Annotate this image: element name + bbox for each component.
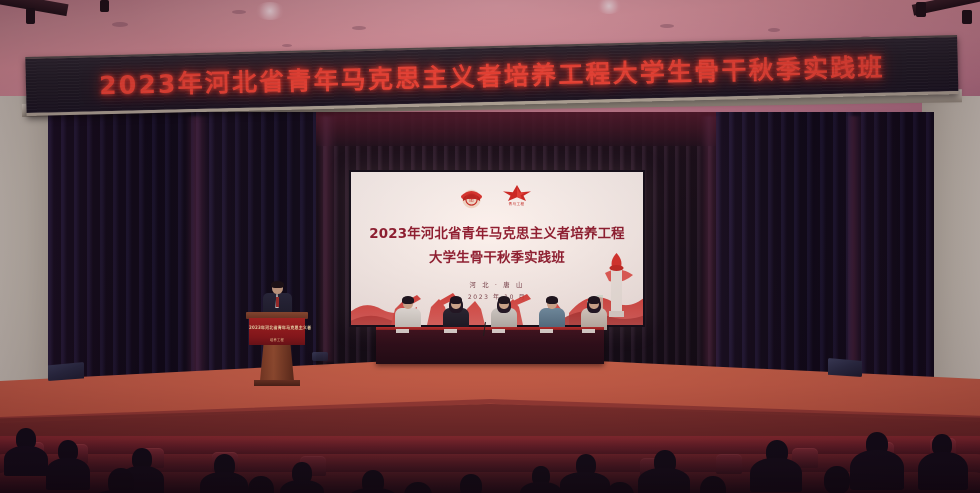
attendee-shoulders — [560, 472, 610, 493]
attendee-head — [460, 474, 482, 493]
attendee-shoulders — [200, 472, 248, 493]
screen-title-line1: 2023年河北省青年马克思主义者培养工程 — [351, 222, 643, 242]
stage-light-fixture — [962, 10, 972, 24]
curtain-fold — [846, 116, 862, 372]
podium-front-text: 2023年河北省青年马克思主义者 — [249, 325, 305, 331]
table-document — [540, 329, 553, 333]
attendee-shoulders — [918, 452, 968, 490]
ceiling-vent — [282, 44, 292, 47]
ceiling-vent — [112, 22, 128, 27]
podium-column — [260, 345, 294, 381]
panelist-hair-top — [450, 296, 462, 304]
stage-monitor-speaker — [828, 358, 862, 377]
panelist-4 — [538, 296, 566, 330]
stage-light-fixture — [100, 0, 109, 12]
stage-monitor-speaker — [312, 352, 328, 361]
podium: 2023年河北省青年马克思主义者 培养工程 — [246, 312, 308, 386]
stage-curtain-panel — [48, 112, 208, 380]
panel-table — [376, 330, 604, 364]
led-banner-text: 2023年河北省青年马克思主义者培养工程大学生骨干秋季实践班 — [26, 46, 959, 104]
auditorium-stage-photo: 2023年河北省青年马克思主义者培养工程大学生骨干秋季实践班 — [0, 0, 980, 493]
ceiling-vent — [660, 24, 674, 28]
panelist-hair-top — [588, 296, 600, 304]
panelist-2 — [442, 296, 470, 330]
podium-front-subtext: 培养工程 — [249, 337, 305, 342]
ceiling-vent — [352, 26, 366, 30]
table-document — [396, 329, 409, 333]
red-star-icon — [500, 184, 534, 201]
panelist-3 — [490, 296, 518, 330]
ceiling-vent — [768, 28, 780, 32]
attendee-shoulders — [750, 458, 802, 492]
panelist-hair-top — [498, 296, 510, 304]
attendee-shoulders — [4, 446, 48, 476]
auditorium-seat — [716, 454, 742, 474]
attendee-shoulders — [520, 482, 562, 493]
panelist-hair — [546, 296, 558, 304]
screen-subtitle-location: 河 北 · 唐 山 — [351, 280, 643, 289]
screen-logo-row: 团 青马工程 — [351, 184, 643, 210]
attendee-shoulders — [46, 458, 90, 490]
attendee-shoulders — [638, 468, 690, 493]
curtain-fold — [186, 116, 208, 378]
panelist-hair — [402, 296, 414, 304]
panelist-1 — [394, 296, 422, 330]
presenter-hair — [271, 281, 284, 288]
communist-youth-league-emblem-icon: 团 — [459, 184, 484, 210]
stage-curtain-panel — [716, 112, 856, 380]
ceiling-light-glow — [596, 0, 622, 14]
table-document — [492, 329, 505, 333]
proscenium-wall-left — [0, 96, 54, 396]
presenter-tie — [276, 297, 279, 307]
curtain-fold — [700, 116, 720, 366]
stage-light-fixture — [26, 8, 35, 24]
podium-base — [254, 380, 300, 386]
panelist-5 — [580, 296, 608, 330]
attendee-shoulders — [850, 450, 904, 490]
table-document — [582, 329, 595, 333]
table-document — [444, 329, 457, 333]
screen-title-line2: 大学生骨干秋季实践班 — [351, 246, 643, 266]
stage-light-fixture — [916, 2, 926, 17]
curtain-fold — [318, 116, 336, 362]
podium-front-panel: 2023年河北省青年马克思主义者 培养工程 — [249, 318, 305, 345]
attendee-head — [824, 466, 850, 493]
ceiling-vent — [232, 10, 246, 14]
qingma-project-logo: 青马工程 — [498, 184, 536, 210]
ceiling-light-glow — [255, 2, 285, 20]
attendee-shoulders — [280, 480, 324, 493]
audience-area — [0, 412, 980, 493]
qingma-project-label: 青马工程 — [509, 202, 525, 207]
